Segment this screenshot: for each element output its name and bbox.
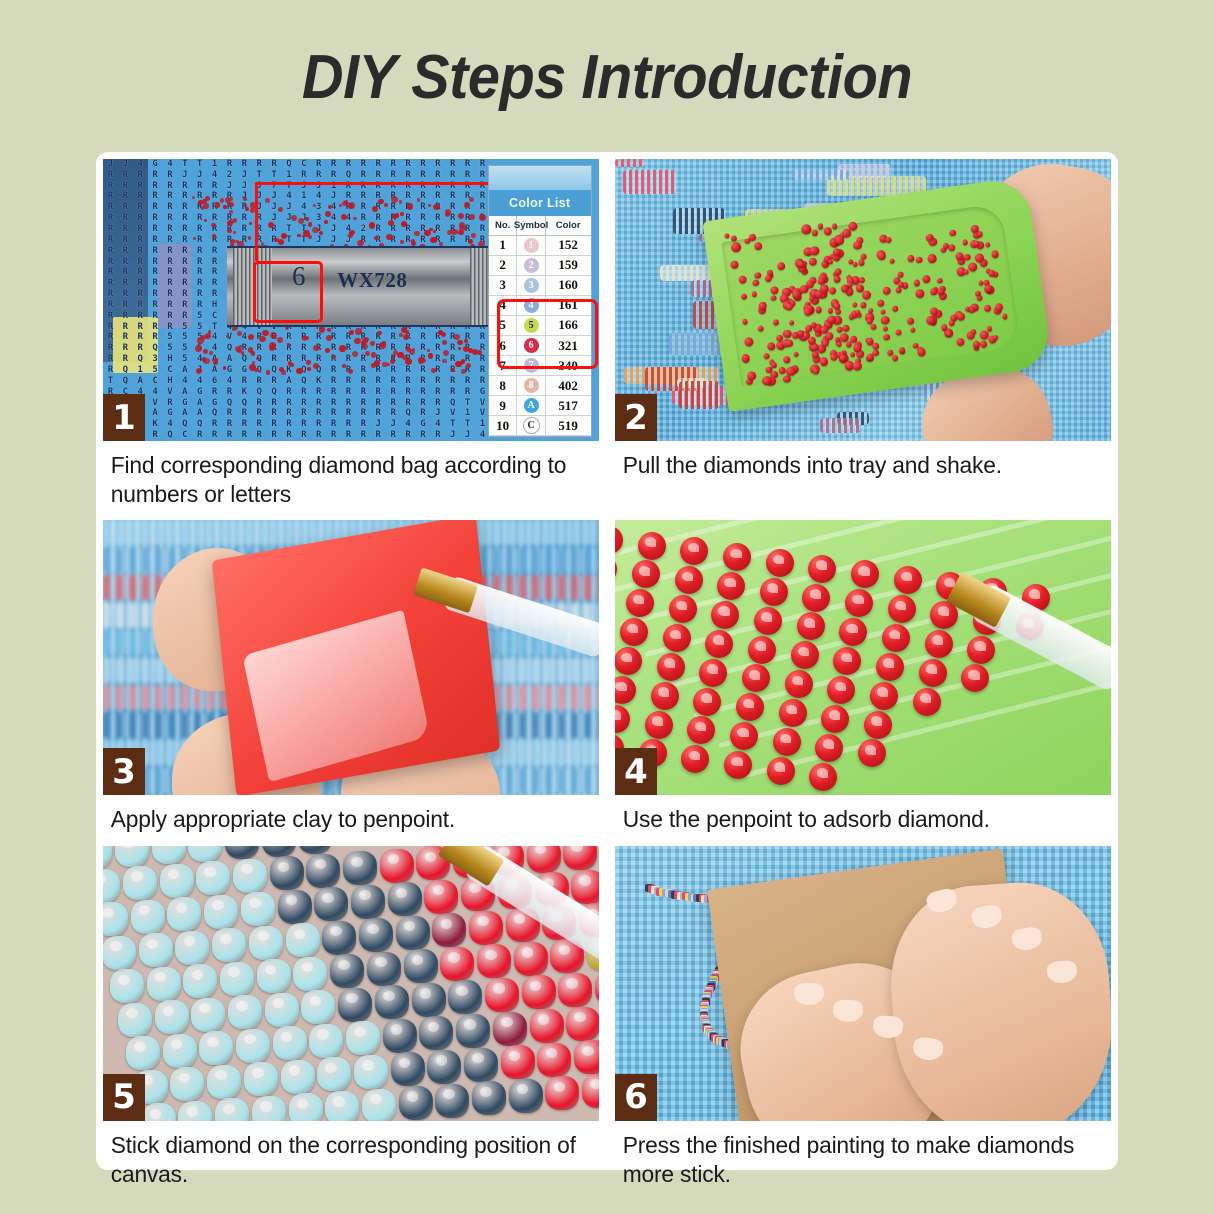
- canvas-symbol: R: [133, 344, 148, 353]
- canvas-symbol: R: [415, 366, 430, 375]
- loose-diamond: [374, 236, 378, 240]
- colored-diamond: [399, 1086, 433, 1120]
- color-symbol-chip: 1: [524, 238, 539, 253]
- loose-diamond: [232, 218, 237, 223]
- loose-diamond: [319, 231, 323, 235]
- colored-diamond: [346, 1021, 380, 1055]
- canvas-symbol: R: [163, 399, 178, 408]
- step-5-photo: 5: [103, 846, 599, 1121]
- canvas-symbol: R: [296, 431, 311, 440]
- canvas-symbol: R: [237, 431, 252, 440]
- canvas-symbol: R: [296, 420, 311, 429]
- aligned-diamond: [754, 607, 782, 635]
- loose-diamond: [227, 229, 231, 233]
- canvas-symbol: R: [430, 214, 445, 223]
- canvas-symbol: R: [118, 192, 133, 201]
- colored-diamond: [343, 851, 377, 885]
- canvas-symbol: R: [252, 160, 267, 169]
- canvas-symbol: R: [163, 323, 178, 332]
- canvas-symbol: R: [118, 290, 133, 299]
- aligned-diamond: [669, 595, 697, 623]
- aligned-diamond: [864, 711, 892, 739]
- canvas-symbol: R: [118, 344, 133, 353]
- loose-diamond: [307, 367, 310, 370]
- canvas-symbol: R: [296, 171, 311, 180]
- canvas-symbol: Q: [118, 366, 133, 375]
- canvas-symbol: R: [326, 160, 341, 169]
- canvas-symbol: R: [163, 214, 178, 223]
- color-list-row: 88402: [489, 376, 591, 396]
- canvas-symbol: R: [326, 171, 341, 180]
- loose-diamond: [441, 332, 446, 337]
- canvas-symbol: R: [118, 182, 133, 191]
- canvas-symbol: A: [177, 366, 192, 375]
- canvas-symbol: R: [222, 160, 237, 169]
- loose-diamond: [308, 222, 313, 227]
- canvas-symbol: R: [207, 258, 222, 267]
- canvas-symbol: R: [326, 431, 341, 440]
- canvas-symbol: R: [207, 214, 222, 223]
- color-list-color: 517: [546, 396, 591, 415]
- canvas-symbol: R: [430, 388, 445, 397]
- canvas-symbol: V: [163, 388, 178, 397]
- canvas-symbol: R: [356, 377, 371, 386]
- canvas-symbol: R: [341, 377, 356, 386]
- canvas-symbol: 4: [282, 192, 297, 201]
- canvas-symbol: K: [148, 420, 163, 429]
- canvas-symbol: R: [192, 225, 207, 234]
- canvas-symbol: R: [103, 225, 118, 234]
- canvas-symbol: T: [177, 160, 192, 169]
- canvas-symbol: R: [460, 171, 475, 180]
- canvas-symbol: 4: [207, 171, 222, 180]
- canvas-symbol: A: [282, 377, 297, 386]
- canvas-symbol: R: [430, 160, 445, 169]
- canvas-symbol: R: [282, 431, 297, 440]
- colored-diamond: [155, 1000, 189, 1034]
- step-badge-2: 2: [615, 394, 657, 441]
- canvas-symbol: R: [133, 247, 148, 256]
- canvas-symbol: R: [118, 323, 133, 332]
- aligned-diamond: [870, 682, 898, 710]
- bag-code-label: WX728: [337, 268, 407, 293]
- loose-diamond: [403, 334, 409, 340]
- step-badge-5: 5: [103, 1074, 145, 1121]
- colored-diamond: [196, 861, 230, 895]
- canvas-symbol: R: [267, 431, 282, 440]
- canvas-symbol: R: [103, 258, 118, 267]
- colored-diamond: [537, 1043, 571, 1077]
- loose-diamond: [405, 358, 412, 365]
- step-caption-3: Apply appropriate clay to penpoint.: [103, 795, 584, 846]
- loose-diamond: [355, 328, 361, 334]
- colored-diamond: [115, 846, 149, 867]
- colored-diamond: [362, 1089, 396, 1121]
- highlight-connector-horizontal: [255, 182, 523, 185]
- colored-diamond: [244, 1062, 278, 1096]
- canvas-symbol: 1: [133, 366, 148, 375]
- bag-number-highlight-box: [253, 261, 323, 323]
- canvas-symbol: R: [252, 431, 267, 440]
- loose-diamond: [205, 333, 211, 339]
- loose-diamond: [371, 352, 376, 357]
- canvas-symbol: 1: [296, 192, 311, 201]
- colored-diamond: [412, 983, 446, 1017]
- colored-diamond: [103, 936, 136, 970]
- canvas-symbol: R: [177, 247, 192, 256]
- colored-diamond: [233, 859, 267, 893]
- canvas-symbol: R: [133, 333, 148, 342]
- canvas-symbol: R: [267, 377, 282, 386]
- colored-diamond: [501, 1045, 535, 1079]
- canvas-symbol: J: [222, 182, 237, 191]
- canvas-symbol: R: [341, 388, 356, 397]
- loose-diamond: [195, 345, 201, 351]
- loose-diamond: [302, 336, 307, 341]
- color-list-color: 159: [546, 256, 591, 275]
- colored-diamond: [220, 962, 254, 996]
- canvas-symbol: R: [386, 388, 401, 397]
- color-list-title: Color List: [489, 190, 591, 216]
- step-4-photo: 4: [615, 520, 1111, 795]
- canvas-symbol: Q: [252, 388, 267, 397]
- canvas-symbol: R: [148, 236, 163, 245]
- canvas-symbol: R: [163, 236, 178, 245]
- canvas-symbol: 4: [192, 377, 207, 386]
- canvas-symbol: R: [386, 399, 401, 408]
- color-list-color: 152: [546, 236, 591, 255]
- canvas-symbol: C: [163, 366, 178, 375]
- canvas-symbol: R: [133, 203, 148, 212]
- step-2-photo: 2: [615, 159, 1111, 441]
- canvas-symbol: R: [356, 431, 371, 440]
- loose-diamond: [433, 230, 436, 233]
- canvas-symbol: R: [415, 171, 430, 180]
- canvas-symbol: R: [415, 409, 430, 418]
- aligned-diamond: [767, 757, 795, 785]
- canvas-symbol: R: [296, 409, 311, 418]
- loose-diamond: [433, 204, 440, 211]
- canvas-symbol: R: [252, 236, 267, 245]
- canvas-symbol: R: [341, 160, 356, 169]
- canvas-symbol: R: [118, 301, 133, 310]
- canvas-symbol: R: [148, 171, 163, 180]
- canvas-symbol: R: [103, 247, 118, 256]
- canvas-symbol: R: [401, 388, 416, 397]
- loose-diamond: [288, 362, 292, 366]
- canvas-symbol: R: [326, 420, 341, 429]
- color-list-color: 519: [546, 416, 591, 435]
- canvas-symbol: R: [311, 171, 326, 180]
- loose-diamond: [325, 348, 330, 353]
- aligned-diamond: [802, 584, 830, 612]
- aligned-diamond: [785, 670, 813, 698]
- canvas-symbol: R: [296, 344, 311, 353]
- colored-diamond: [354, 1055, 388, 1089]
- canvas-symbol: R: [118, 236, 133, 245]
- colored-diamond: [485, 978, 519, 1012]
- colored-diamond: [126, 1036, 160, 1070]
- aligned-diamond: [766, 549, 794, 577]
- canvas-symbol: Q: [222, 399, 237, 408]
- loose-diamond: [313, 204, 316, 207]
- color-list-no: 1: [489, 236, 517, 255]
- canvas-symbol: 1: [460, 409, 475, 418]
- canvas-symbol: R: [326, 366, 341, 375]
- aligned-diamond: [779, 699, 807, 727]
- canvas-symbol: A: [207, 366, 222, 375]
- canvas-symbol: 5: [163, 333, 178, 342]
- colored-diamond: [163, 1034, 197, 1068]
- step-3-photo: 3: [103, 520, 599, 795]
- canvas-symbol: Q: [267, 388, 282, 397]
- canvas-symbol: R: [237, 160, 252, 169]
- loose-diamond: [451, 229, 458, 236]
- canvas-symbol: A: [192, 399, 207, 408]
- loose-diamond: [386, 234, 392, 240]
- canvas-symbol: R: [386, 225, 401, 234]
- colored-diamond: [123, 866, 157, 900]
- canvas-symbol: R: [282, 399, 297, 408]
- canvas-streak: [820, 418, 860, 433]
- highlight-connector-left: [255, 182, 258, 261]
- colored-diamond: [252, 1096, 286, 1121]
- loose-diamond: [400, 240, 404, 244]
- loose-diamond: [192, 196, 195, 199]
- canvas-symbol: R: [371, 160, 386, 169]
- canvas-symbol: R: [237, 377, 252, 386]
- step-1-photo: JJ4G4TT1RRRRQCRRRRRRRRRRRRRRRRRJJ42JTT1R…: [103, 159, 599, 441]
- colored-diamond: [330, 954, 364, 988]
- canvas-symbol: R: [192, 258, 207, 267]
- color-list-header-symbol: Symbol: [517, 216, 545, 235]
- canvas-symbol: R: [177, 182, 192, 191]
- colored-diamond: [325, 1091, 359, 1121]
- step-badge-4: 4: [615, 748, 657, 795]
- canvas-symbol: R: [207, 420, 222, 429]
- loose-diamond: [457, 340, 462, 345]
- step-3-cell: 3 Apply appropriate clay to penpoint.: [103, 520, 599, 846]
- canvas-symbol: R: [341, 420, 356, 429]
- colored-diamond: [160, 864, 194, 898]
- canvas-symbol: R: [192, 247, 207, 256]
- aligned-diamond: [724, 751, 752, 779]
- colored-diamond: [236, 1029, 270, 1063]
- canvas-symbol: R: [401, 366, 416, 375]
- loose-diamond: [287, 343, 290, 346]
- colored-diamond: [270, 856, 304, 890]
- colored-diamond: [435, 1084, 469, 1118]
- color-list-no: 9: [489, 396, 517, 415]
- canvas-symbol: R: [371, 377, 386, 386]
- canvas-symbol: R: [177, 258, 192, 267]
- canvas-symbol: R: [118, 203, 133, 212]
- canvas-symbol: 4: [430, 420, 445, 429]
- loose-diamond: [427, 349, 430, 352]
- canvas-symbol: R: [356, 192, 371, 201]
- loose-diamond: [319, 326, 325, 332]
- loose-diamond: [212, 234, 216, 238]
- tray-diamond: [853, 362, 863, 372]
- loose-diamond: [431, 368, 436, 373]
- canvas-symbol: 2: [222, 171, 237, 180]
- loose-diamond: [296, 368, 302, 374]
- canvas-symbol: R: [118, 355, 133, 364]
- canvas-symbol: J: [103, 160, 118, 169]
- canvas-symbol: R: [311, 388, 326, 397]
- colored-diamond: [204, 895, 238, 929]
- canvas-symbol: R: [207, 268, 222, 277]
- canvas-symbol: Q: [282, 160, 297, 169]
- colored-diamond: [396, 916, 430, 950]
- canvas-symbol: R: [163, 192, 178, 201]
- canvas-symbol: R: [103, 203, 118, 212]
- loose-diamond: [325, 211, 330, 216]
- canvas-symbol: R: [267, 355, 282, 364]
- canvas-symbol: R: [237, 420, 252, 429]
- loose-diamond: [269, 345, 275, 351]
- canvas-symbol: R: [163, 268, 178, 277]
- canvas-symbol: R: [356, 214, 371, 223]
- canvas-symbol: R: [103, 290, 118, 299]
- step-2-cell: 2 Pull the diamonds into tray and shake.: [615, 159, 1111, 520]
- colored-diamond: [281, 1060, 315, 1094]
- aligned-diamond: [797, 612, 825, 640]
- colored-diamond: [301, 990, 335, 1024]
- loose-diamond: [464, 339, 468, 343]
- canvas-symbol: R: [118, 268, 133, 277]
- canvas-symbol: R: [163, 290, 178, 299]
- loose-diamond: [278, 207, 283, 212]
- canvas-symbol: R: [148, 203, 163, 212]
- aligned-diamond: [919, 659, 947, 687]
- canvas-symbol: R: [207, 290, 222, 299]
- canvas-symbol: T: [267, 171, 282, 180]
- colored-diamond: [293, 957, 327, 991]
- colored-diamond: [514, 942, 548, 976]
- loose-diamond: [411, 239, 415, 243]
- canvas-symbol: R: [148, 182, 163, 191]
- canvas-symbol: R: [177, 203, 192, 212]
- loose-diamond: [243, 197, 247, 201]
- step-badge-6: 6: [615, 1074, 657, 1121]
- color-symbol-chip: 8: [524, 378, 539, 393]
- loose-diamond: [197, 337, 204, 344]
- loose-diamond: [377, 331, 381, 335]
- canvas-symbol: R: [103, 192, 118, 201]
- canvas-symbol: R: [207, 182, 222, 191]
- canvas-symbol: R: [356, 399, 371, 408]
- loose-diamond: [281, 370, 286, 375]
- colored-diamond: [103, 902, 128, 936]
- aligned-diamond: [693, 688, 721, 716]
- canvas-symbol: J: [445, 431, 460, 440]
- canvas-symbol: R: [267, 399, 282, 408]
- loose-diamond: [429, 228, 432, 231]
- canvas-symbol: 4: [177, 377, 192, 386]
- canvas-symbol: R: [296, 399, 311, 408]
- colored-diamond: [207, 1065, 241, 1099]
- canvas-streak: [623, 170, 676, 195]
- canvas-symbol: R: [386, 171, 401, 180]
- aligned-diamond: [913, 688, 941, 716]
- colored-diamond: [215, 1098, 249, 1121]
- canvas-symbol: R: [356, 409, 371, 418]
- loose-diamond: [203, 203, 209, 209]
- color-list-symbol: 1: [517, 236, 545, 255]
- color-list-symbol: A: [517, 396, 545, 415]
- canvas-symbol: H: [163, 377, 178, 386]
- colored-diamond: [178, 1101, 212, 1121]
- canvas-symbol: 4: [163, 420, 178, 429]
- colored-diamond: [131, 900, 165, 934]
- loose-diamond: [341, 214, 347, 220]
- colored-diamond: [142, 1103, 176, 1121]
- colored-diamond: [404, 949, 438, 983]
- aligned-diamond: [760, 578, 788, 606]
- step-4-cell: 4 Use the penpoint to adsorb diamond.: [615, 520, 1111, 846]
- aligned-diamond: [711, 601, 739, 629]
- colored-diamond: [265, 993, 299, 1027]
- colored-diamond: [317, 1057, 351, 1091]
- loose-diamond: [230, 239, 234, 243]
- aligned-diamond: [657, 653, 685, 681]
- canvas-symbol: Q: [133, 355, 148, 364]
- canvas-symbol: R: [177, 290, 192, 299]
- step-5-cell: 5 Stick diamond on the corresponding pos…: [103, 846, 599, 1200]
- aligned-diamond: [821, 705, 849, 733]
- canvas-symbol: R: [148, 268, 163, 277]
- canvas-symbol: R: [133, 182, 148, 191]
- loose-diamond: [468, 348, 473, 353]
- canvas-symbol: R: [103, 355, 118, 364]
- loose-diamond: [348, 203, 353, 208]
- canvas-symbol: R: [252, 420, 267, 429]
- canvas-symbol: R: [356, 203, 371, 212]
- canvas-symbol: T: [460, 420, 475, 429]
- colored-diamond: [314, 887, 348, 921]
- step-caption-1: Find corresponding diamond bag according…: [103, 441, 584, 520]
- canvas-symbol: R: [445, 192, 460, 201]
- color-list-row: 9A517: [489, 396, 591, 416]
- canvas-symbol: R: [326, 409, 341, 418]
- aligned-diamond: [638, 532, 666, 560]
- canvas-symbol: J: [237, 182, 252, 191]
- canvas-symbol: 1: [282, 171, 297, 180]
- color-list-color: 402: [546, 376, 591, 395]
- color-symbol-chip: 2: [524, 258, 539, 273]
- colored-diamond: [464, 1048, 498, 1082]
- loose-diamond: [442, 359, 446, 363]
- canvas-symbol: R: [415, 377, 430, 386]
- aligned-diamond: [876, 653, 904, 681]
- canvas-symbol: R: [222, 388, 237, 397]
- canvas-symbol: J: [192, 171, 207, 180]
- loose-diamond: [401, 221, 407, 227]
- canvas-symbol: R: [267, 160, 282, 169]
- canvas-symbol: R: [192, 290, 207, 299]
- canvas-symbol: R: [311, 333, 326, 342]
- canvas-symbol: R: [192, 182, 207, 191]
- canvas-symbol: R: [371, 171, 386, 180]
- colored-diamond: [522, 975, 556, 1009]
- colored-diamond: [558, 973, 592, 1007]
- canvas-symbol: R: [311, 409, 326, 418]
- canvas-symbol: 5: [148, 366, 163, 375]
- canvas-symbol: R: [133, 171, 148, 180]
- step-6-cell: e Book 6 Press the finished painting to …: [615, 846, 1111, 1200]
- canvas-symbol: R: [460, 377, 475, 386]
